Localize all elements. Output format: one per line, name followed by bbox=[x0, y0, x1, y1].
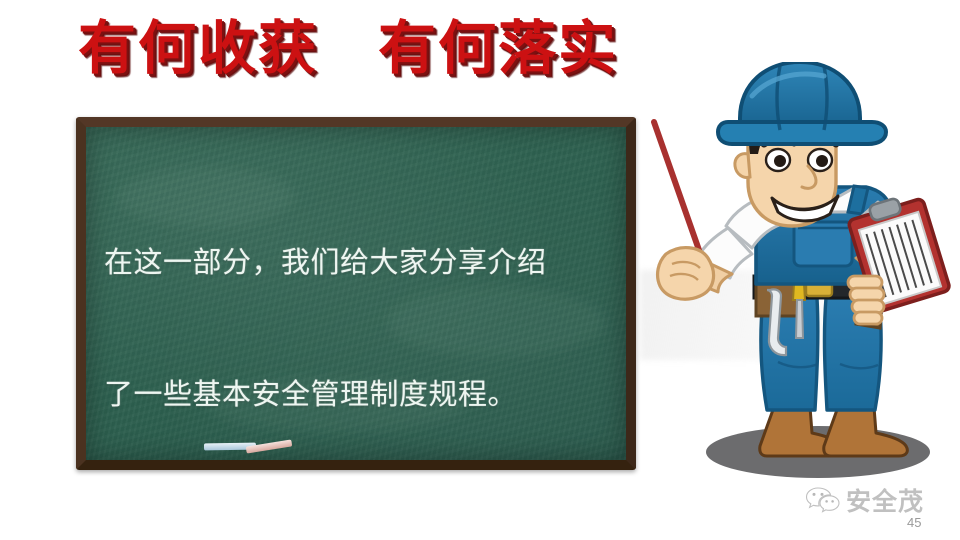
slide-canvas: 有何收获 有何落实 在这一部分，我们给大家分享介绍 了一些基本安全管理制度规程。… bbox=[0, 0, 960, 540]
page-title: 有何收获 有何落实 bbox=[78, 16, 618, 83]
eye-pupil bbox=[816, 155, 828, 167]
hard-hat-icon bbox=[718, 62, 886, 144]
blackboard-text: 在这一部分，我们给大家分享介绍 了一些基本安全管理制度规程。 对于此部分内容，大… bbox=[86, 127, 626, 470]
page-number: 45 bbox=[907, 515, 921, 530]
wechat-icon bbox=[806, 487, 840, 513]
blackboard-line-2: 了一些基本安全管理制度规程。 bbox=[104, 373, 610, 417]
blackboard: 在这一部分，我们给大家分享介绍 了一些基本安全管理制度规程。 对于此部分内容，大… bbox=[76, 117, 636, 470]
eye-pupil bbox=[774, 155, 786, 167]
wechat-watermark: 安全茂 bbox=[806, 482, 924, 518]
worker-illustration bbox=[648, 62, 960, 492]
screwdriver-icon bbox=[793, 284, 805, 300]
worker-clipboard-hand bbox=[848, 276, 884, 324]
watermark-text: 安全茂 bbox=[846, 482, 924, 518]
blackboard-line-1: 在这一部分，我们给大家分享介绍 bbox=[104, 241, 610, 285]
